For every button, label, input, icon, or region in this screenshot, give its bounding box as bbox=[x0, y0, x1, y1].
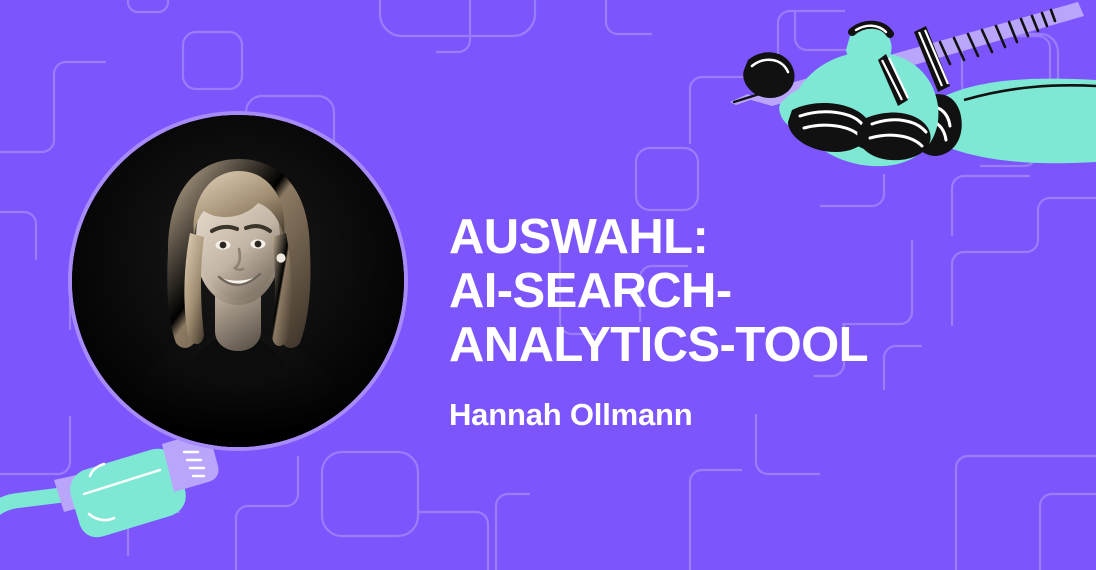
page-title: AUSWAHL: AI-SEARCH- ANALYTICS-TOOL bbox=[449, 210, 1049, 372]
title-slide: AUSWAHL: AI-SEARCH- ANALYTICS-TOOL Hanna… bbox=[0, 0, 1096, 570]
avatar-photo-clip bbox=[72, 115, 404, 447]
title-text-block: AUSWAHL: AI-SEARCH- ANALYTICS-TOOL Hanna… bbox=[449, 210, 1049, 434]
headline-line-3: ANALYTICS-TOOL bbox=[449, 318, 1049, 372]
speaker-name: Hannah Ollmann bbox=[449, 396, 1049, 434]
robot-hand-holding-stylus-illustration bbox=[726, 0, 1096, 194]
usb-cable-plug-illustration bbox=[0, 432, 222, 542]
headline-line-1: AUSWAHL: bbox=[449, 210, 1049, 264]
speaker-portrait-photo bbox=[72, 115, 404, 447]
headline-line-2: AI-SEARCH- bbox=[449, 264, 1049, 318]
speaker-avatar bbox=[68, 111, 408, 451]
